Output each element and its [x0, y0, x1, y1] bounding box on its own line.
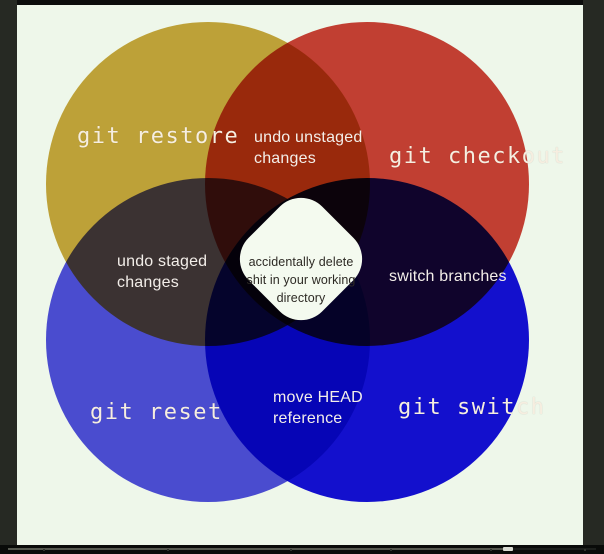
venn-label-center-all-four: accidentally delete shit in your working… [246, 253, 356, 307]
venn-label-undo-unstaged-changes: undo unstaged changes [254, 128, 394, 170]
venn-diagram-canvas: git restore git checkout git reset git s… [17, 5, 583, 545]
scrubber-tick [490, 549, 492, 551]
video-scrubber[interactable] [0, 545, 604, 554]
video-player-frame: git restore git checkout git reset git s… [0, 0, 604, 554]
scrubber-tick [167, 549, 169, 551]
scrubber-progress [8, 548, 508, 550]
letterbox-left [0, 0, 17, 549]
letterbox-top [0, 0, 604, 5]
venn-label-undo-staged-changes: undo staged changes [117, 252, 257, 294]
letterbox-right [583, 0, 604, 549]
venn-circle-git-switch[interactable] [205, 178, 529, 502]
venn-label-git-checkout: git checkout [389, 143, 566, 172]
scrubber-tick [584, 549, 586, 551]
venn-label-move-head-reference: move HEAD reference [273, 388, 393, 430]
venn-label-switch-branches: switch branches [389, 267, 559, 288]
scrubber-tick [43, 549, 45, 551]
venn-label-git-switch: git switch [398, 394, 545, 423]
scrubber-tick [290, 549, 292, 551]
venn-label-git-restore: git restore [77, 123, 239, 152]
scrubber-tick [390, 549, 392, 551]
venn-label-git-reset: git reset [90, 399, 223, 428]
scrubber-handle[interactable] [503, 547, 513, 551]
